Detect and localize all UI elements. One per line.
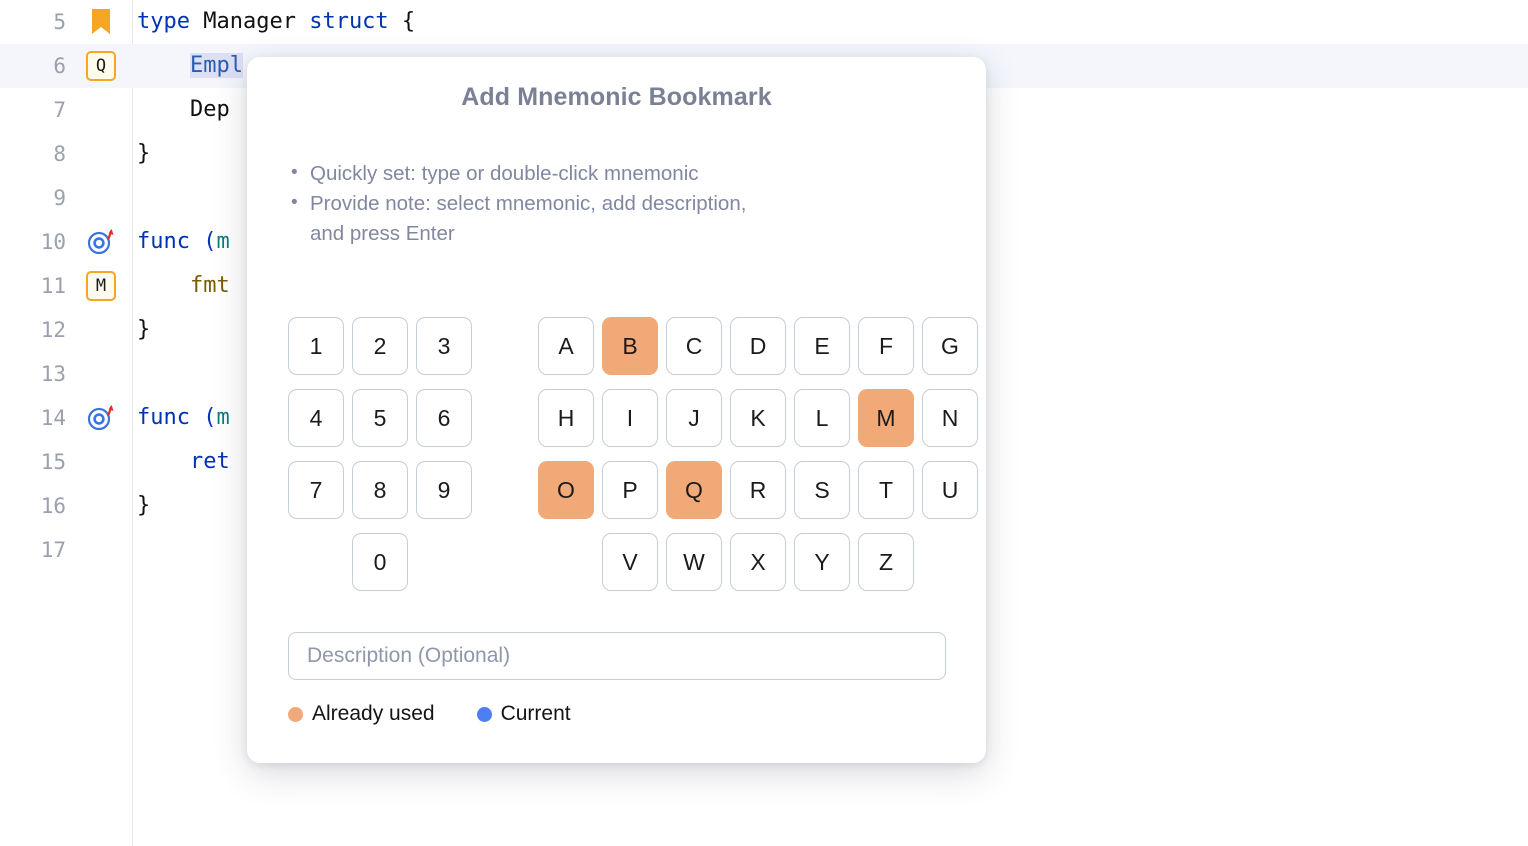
- bookmark-flag-icon: [90, 8, 112, 36]
- code-token: }: [137, 493, 150, 518]
- keypad-gap: [480, 317, 538, 389]
- code-line[interactable]: 5type Manager struct {: [0, 0, 1528, 44]
- mnemonic-key-N[interactable]: N: [922, 389, 978, 447]
- keypad-row: 0VWXYZ: [288, 533, 948, 605]
- add-mnemonic-bookmark-dialog: Add Mnemonic Bookmark Quickly set: type …: [247, 57, 986, 763]
- legend-item: Current: [477, 702, 571, 726]
- mnemonic-key-B[interactable]: B: [602, 317, 658, 375]
- code-token: struct: [309, 9, 402, 34]
- code-token: Emp: [190, 53, 230, 78]
- mnemonic-key-3[interactable]: 3: [416, 317, 472, 375]
- legend: Already usedCurrent: [288, 702, 613, 726]
- keypad-spacer: [538, 533, 594, 591]
- mnemonic-key-W[interactable]: W: [666, 533, 722, 591]
- hint-text: Quickly set: type or double-click mnemon…: [310, 162, 699, 185]
- code-token: [137, 53, 190, 78]
- mnemonic-key-L[interactable]: L: [794, 389, 850, 447]
- code-token: }: [137, 317, 150, 342]
- line-number: 11: [0, 276, 72, 297]
- mnemonic-key-O[interactable]: O: [538, 461, 594, 519]
- mnemonic-key-Z[interactable]: Z: [858, 533, 914, 591]
- code-token: func (: [137, 405, 216, 430]
- line-number: 13: [0, 364, 72, 385]
- mnemonic-key-P[interactable]: P: [602, 461, 658, 519]
- code-token: type: [137, 9, 203, 34]
- legend-label: Already used: [312, 702, 435, 726]
- mnemonic-key-1[interactable]: 1: [288, 317, 344, 375]
- code-token: {: [402, 9, 415, 34]
- mnemonic-key-K[interactable]: K: [730, 389, 786, 447]
- implementation-target-icon[interactable]: [72, 220, 130, 264]
- line-number: 17: [0, 540, 72, 561]
- mnemonic-keypad[interactable]: 123ABCDEFG456HIJKLMN789OPQRSTU0VWXYZ: [288, 317, 948, 605]
- gutter-empty: [72, 484, 130, 528]
- keypad-gap: [480, 533, 538, 605]
- mnemonic-key-X[interactable]: X: [730, 533, 786, 591]
- gutter-empty: [72, 176, 130, 220]
- line-number: 8: [0, 144, 72, 165]
- letter-keys: ABCDEFG: [538, 317, 986, 389]
- mnemonic-key-M[interactable]: M: [858, 389, 914, 447]
- mnemonic-key-T[interactable]: T: [858, 461, 914, 519]
- dialog-title: Add Mnemonic Bookmark: [247, 57, 986, 112]
- code-token: l: [230, 53, 243, 78]
- numeric-keys: 456: [288, 389, 480, 461]
- keypad-spacer: [288, 533, 344, 591]
- description-input[interactable]: [288, 632, 946, 680]
- mnemonic-key-9[interactable]: 9: [416, 461, 472, 519]
- line-number: 10: [0, 232, 72, 253]
- gutter-empty: [72, 88, 130, 132]
- implementation-target-icon: [86, 227, 116, 257]
- numeric-keys: 789: [288, 461, 480, 533]
- numeric-keys: 123: [288, 317, 480, 389]
- already-used-dot-icon: [288, 707, 303, 722]
- code-text[interactable]: type Manager struct {: [130, 11, 1528, 33]
- mnemonic-key-I[interactable]: I: [602, 389, 658, 447]
- gutter-empty: [72, 132, 130, 176]
- mnemonic-key-D[interactable]: D: [730, 317, 786, 375]
- keypad-row: 456HIJKLMN: [288, 389, 948, 461]
- mnemonic-key-Y[interactable]: Y: [794, 533, 850, 591]
- mnemonic-key-R[interactable]: R: [730, 461, 786, 519]
- gutter-empty: [72, 352, 130, 396]
- line-number: 12: [0, 320, 72, 341]
- keypad-gap: [480, 461, 538, 533]
- code-token: func (: [137, 229, 216, 254]
- mnemonic-key-S[interactable]: S: [794, 461, 850, 519]
- implementation-target-icon[interactable]: [72, 396, 130, 440]
- hint-item-provide-note: Provide note: select mnemonic, add descr…: [310, 189, 986, 249]
- line-number: 14: [0, 408, 72, 429]
- hints-list: Quickly set: type or double-click mnemon…: [291, 159, 986, 249]
- legend-label: Current: [501, 702, 571, 726]
- gutter-mnemonic-badge[interactable]: M: [72, 264, 130, 308]
- mnemonic-key-6[interactable]: 6: [416, 389, 472, 447]
- mnemonic-key-4[interactable]: 4: [288, 389, 344, 447]
- mnemonic-badge-letter: Q: [86, 51, 116, 81]
- mnemonic-key-8[interactable]: 8: [352, 461, 408, 519]
- code-token: Dep: [137, 97, 230, 122]
- code-token: m: [216, 405, 229, 430]
- keypad-row: 123ABCDEFG: [288, 317, 948, 389]
- mnemonic-key-7[interactable]: 7: [288, 461, 344, 519]
- mnemonic-key-J[interactable]: J: [666, 389, 722, 447]
- mnemonic-key-F[interactable]: F: [858, 317, 914, 375]
- legend-item: Already used: [288, 702, 435, 726]
- gutter-empty: [72, 308, 130, 352]
- mnemonic-key-C[interactable]: C: [666, 317, 722, 375]
- gutter-empty: [72, 440, 130, 484]
- keypad-gap: [480, 389, 538, 461]
- mnemonic-key-A[interactable]: A: [538, 317, 594, 375]
- current-dot-icon: [477, 707, 492, 722]
- letter-keys: VWXYZ: [538, 533, 922, 605]
- bookmark-flag-icon[interactable]: [72, 0, 130, 44]
- letter-keys: HIJKLMN: [538, 389, 986, 461]
- gutter-mnemonic-badge[interactable]: Q: [72, 44, 130, 88]
- mnemonic-key-5[interactable]: 5: [352, 389, 408, 447]
- mnemonic-key-2[interactable]: 2: [352, 317, 408, 375]
- mnemonic-key-H[interactable]: H: [538, 389, 594, 447]
- mnemonic-key-E[interactable]: E: [794, 317, 850, 375]
- letter-keys: OPQRSTU: [538, 461, 986, 533]
- keypad-row: 789OPQRSTU: [288, 461, 948, 533]
- hint-item-quickly-set: Quickly set: type or double-click mnemon…: [310, 159, 986, 189]
- code-token: fmt: [137, 273, 230, 298]
- code-token: Manager: [203, 9, 309, 34]
- hint-text-continued: and press Enter: [310, 219, 986, 249]
- code-token: m: [216, 229, 229, 254]
- mnemonic-key-V[interactable]: V: [602, 533, 658, 591]
- hint-text: Provide note: select mnemonic, add descr…: [310, 192, 746, 215]
- implementation-target-icon: [86, 403, 116, 433]
- line-number: 7: [0, 100, 72, 121]
- line-number: 16: [0, 496, 72, 517]
- gutter-empty: [72, 528, 130, 572]
- keypad-spacer: [416, 533, 472, 591]
- mnemonic-key-U[interactable]: U: [922, 461, 978, 519]
- line-number: 15: [0, 452, 72, 473]
- hints-ul: Quickly set: type or double-click mnemon…: [291, 159, 986, 249]
- line-number: 6: [0, 56, 72, 77]
- numeric-keys: 0: [288, 533, 480, 605]
- code-token: }: [137, 141, 150, 166]
- mnemonic-key-G[interactable]: G: [922, 317, 978, 375]
- mnemonic-key-Q[interactable]: Q: [666, 461, 722, 519]
- mnemonic-badge-letter: M: [86, 271, 116, 301]
- code-token: ret: [137, 449, 230, 474]
- line-number: 9: [0, 188, 72, 209]
- mnemonic-key-0[interactable]: 0: [352, 533, 408, 591]
- line-number: 5: [0, 12, 72, 33]
